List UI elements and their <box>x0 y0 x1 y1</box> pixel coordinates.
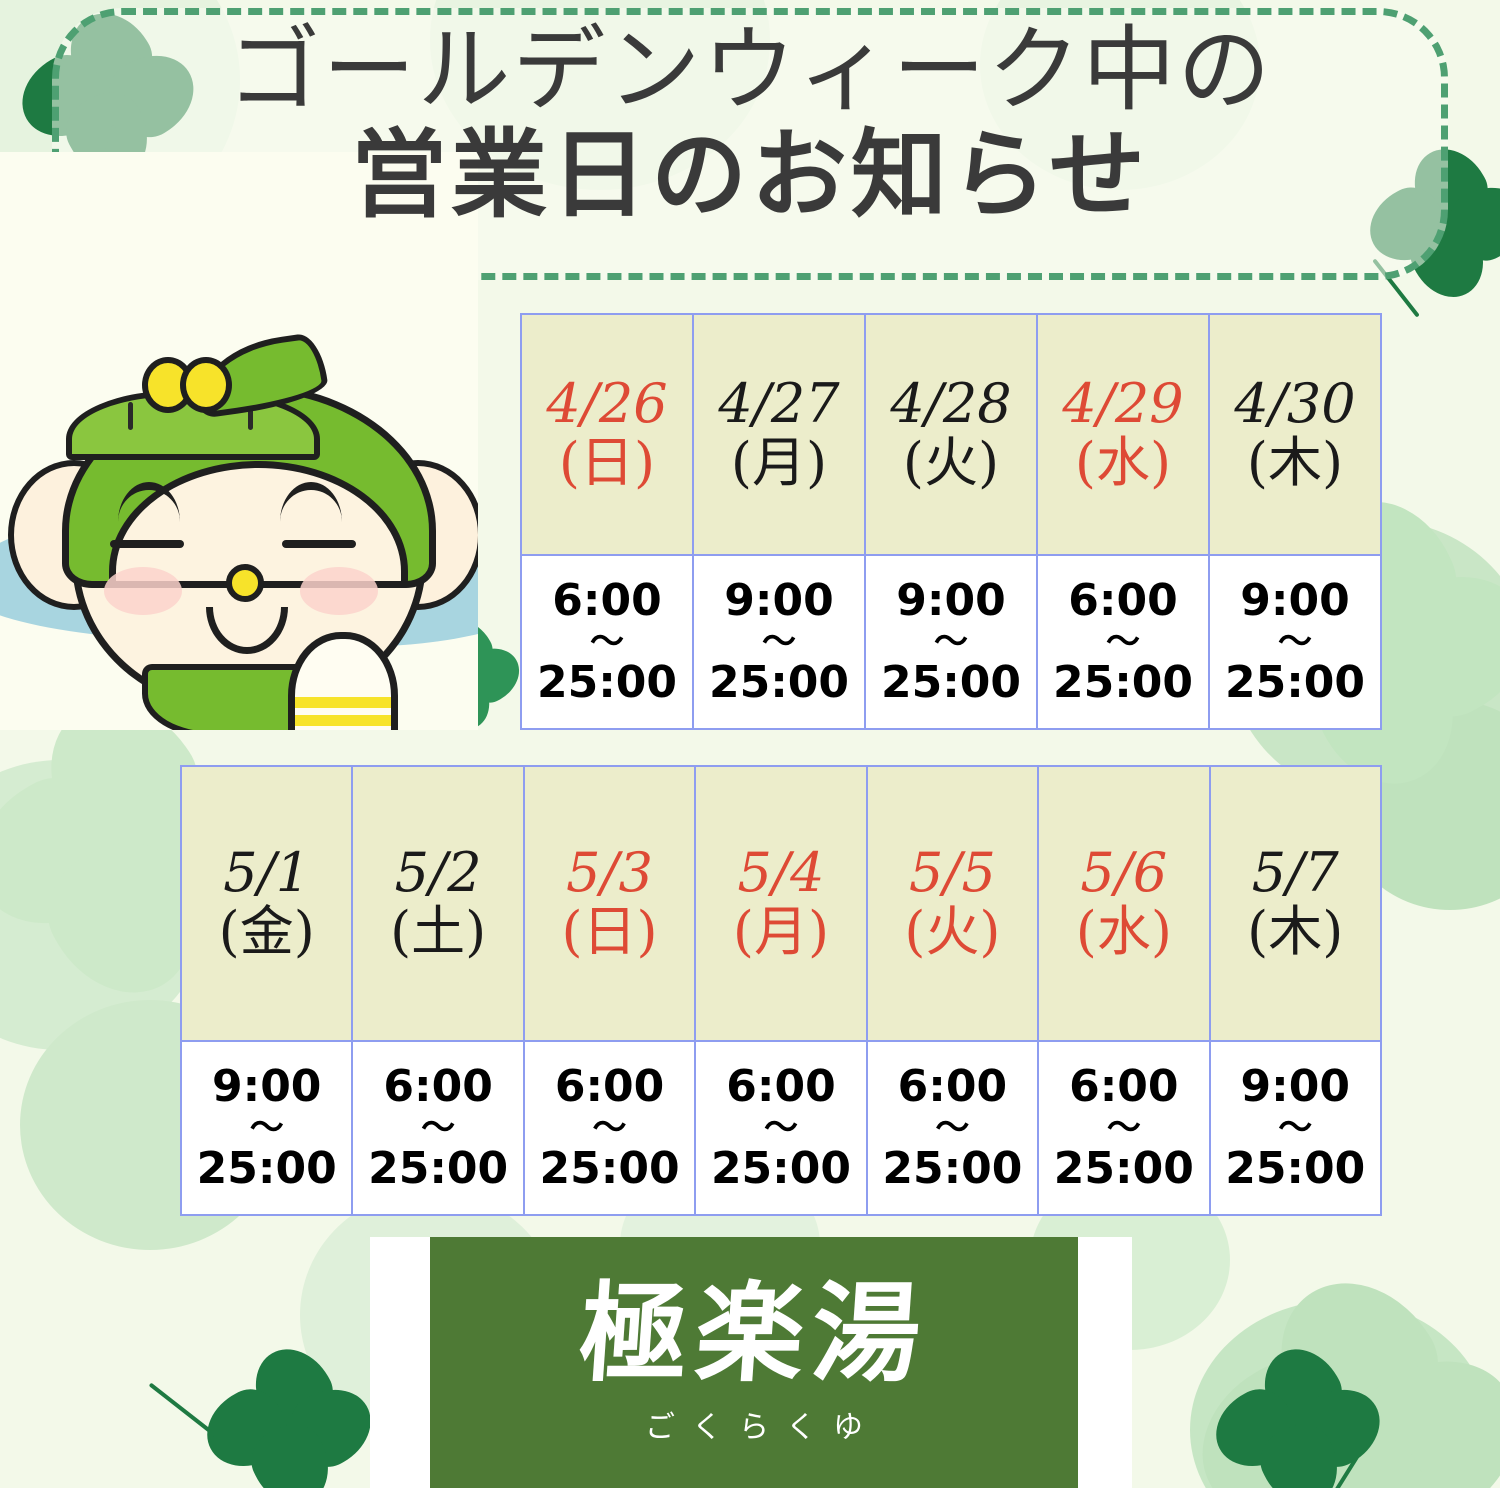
date-cell: 5/6 (水) <box>1039 767 1208 1042</box>
hours-open: 9:00 <box>1240 579 1349 623</box>
date-cell: 4/28 (火) <box>866 315 1036 556</box>
hours-close: 25:00 <box>540 1147 680 1191</box>
hours-separator: ～ <box>1107 1111 1141 1145</box>
notice-title: ゴールデンウィーク中の 営業日のお知らせ <box>0 18 1500 230</box>
schedule-column: 4/30 (木) 9:00 ～ 25:00 <box>1208 313 1382 730</box>
date-weekday: (木) <box>1247 902 1343 962</box>
mascot-illustration <box>0 152 478 730</box>
schedule-column: 5/5 (火) 6:00 ～ 25:00 <box>866 765 1037 1216</box>
schedule-column: 5/7 (木) 9:00 ～ 25:00 <box>1209 765 1382 1216</box>
hours-cell: 9:00 ～ 25:00 <box>866 556 1036 728</box>
date-number: 5/5 <box>909 844 996 902</box>
date-weekday: (土) <box>390 902 486 962</box>
mascot-blush-right <box>300 567 378 615</box>
brand-logo-kana: ごくらくゆ <box>628 1402 880 1446</box>
schedule-column: 5/3 (日) 6:00 ～ 25:00 <box>523 765 694 1216</box>
cap-stitch <box>128 402 133 430</box>
mascot-bud-right <box>180 357 232 413</box>
hours-close: 25:00 <box>1225 1147 1365 1191</box>
date-number: 4/30 <box>1234 375 1355 433</box>
date-weekday: (水) <box>1075 433 1171 493</box>
date-weekday: (月) <box>733 902 829 962</box>
hours-open: 6:00 <box>383 1065 492 1109</box>
hours-cell: 6:00 ～ 25:00 <box>868 1042 1037 1214</box>
hours-close: 25:00 <box>537 661 677 705</box>
hours-open: 6:00 <box>555 1065 664 1109</box>
hours-close: 25:00 <box>881 661 1021 705</box>
hours-open: 9:00 <box>212 1065 321 1109</box>
hours-close: 25:00 <box>709 661 849 705</box>
hours-separator: ～ <box>934 625 968 659</box>
date-number: 4/27 <box>718 375 839 433</box>
hours-open: 6:00 <box>1069 1065 1178 1109</box>
hours-open: 9:00 <box>1241 1065 1350 1109</box>
schedule-column: 4/28 (火) 9:00 ～ 25:00 <box>864 313 1036 730</box>
schedule-column: 5/2 (土) 6:00 ～ 25:00 <box>351 765 522 1216</box>
brand-logo-panel: 極楽湯 ごくらくゆ <box>430 1237 1078 1488</box>
hours-separator: ～ <box>593 1111 627 1145</box>
schedule-column: 5/1 (金) 9:00 ～ 25:00 <box>180 765 351 1216</box>
date-number: 5/3 <box>566 844 653 902</box>
hours-open: 6:00 <box>1068 579 1177 623</box>
hours-separator: ～ <box>935 1111 969 1145</box>
date-weekday: (月) <box>731 433 827 493</box>
hours-separator: ～ <box>590 625 624 659</box>
hours-open: 9:00 <box>896 579 1005 623</box>
hours-close: 25:00 <box>711 1147 851 1191</box>
date-weekday: (火) <box>903 433 999 493</box>
hours-separator: ～ <box>250 1111 284 1145</box>
hours-cell: 6:00 ～ 25:00 <box>1038 556 1208 728</box>
hours-open: 6:00 <box>898 1065 1007 1109</box>
hours-open: 6:00 <box>552 579 661 623</box>
hours-separator: ～ <box>1278 625 1312 659</box>
hours-open: 9:00 <box>724 579 833 623</box>
hours-cell: 9:00 ～ 25:00 <box>694 556 864 728</box>
schedule-column: 5/6 (水) 6:00 ～ 25:00 <box>1037 765 1208 1216</box>
clover-icon <box>205 1348 365 1488</box>
hours-open: 6:00 <box>726 1065 835 1109</box>
hours-cell: 9:00 ～ 25:00 <box>182 1042 351 1214</box>
hours-cell: 9:00 ～ 25:00 <box>1211 1042 1380 1214</box>
mascot-eye-left <box>110 540 184 548</box>
date-cell: 4/27 (月) <box>694 315 864 556</box>
mascot-eye-right <box>282 540 356 548</box>
date-weekday: (木) <box>1247 433 1343 493</box>
date-cell: 4/26 (日) <box>522 315 692 556</box>
schedule-column: 5/4 (月) 6:00 ～ 25:00 <box>694 765 865 1216</box>
hours-cell: 9:00 ～ 25:00 <box>1210 556 1380 728</box>
towel-stripe <box>288 715 398 726</box>
date-weekday: (日) <box>561 902 657 962</box>
hours-separator: ～ <box>1106 625 1140 659</box>
date-cell: 5/3 (日) <box>525 767 694 1042</box>
clover-icon <box>1214 1348 1374 1488</box>
schedule-column: 4/26 (日) 6:00 ～ 25:00 <box>520 313 692 730</box>
mascot-blush-left <box>104 567 182 615</box>
schedule-column: 4/27 (月) 9:00 ～ 25:00 <box>692 313 864 730</box>
hours-close: 25:00 <box>368 1147 508 1191</box>
hours-cell: 6:00 ～ 25:00 <box>525 1042 694 1214</box>
hours-close: 25:00 <box>882 1147 1022 1191</box>
date-cell: 5/4 (月) <box>696 767 865 1042</box>
schedule-table-week1: 4/26 (日) 6:00 ～ 25:00 4/27 (月) 9:00 ～ 25… <box>520 313 1382 730</box>
date-cell: 5/5 (火) <box>868 767 1037 1042</box>
date-weekday: (金) <box>219 902 315 962</box>
date-cell: 4/30 (木) <box>1210 315 1380 556</box>
hours-close: 25:00 <box>1053 661 1193 705</box>
date-number: 4/26 <box>546 375 667 433</box>
title-line-2: 営業日のお知らせ <box>0 122 1500 230</box>
hours-cell: 6:00 ～ 25:00 <box>1039 1042 1208 1214</box>
date-cell: 4/29 (水) <box>1038 315 1208 556</box>
date-number: 5/4 <box>738 844 825 902</box>
date-cell: 5/2 (土) <box>353 767 522 1042</box>
hours-cell: 6:00 ～ 25:00 <box>353 1042 522 1214</box>
hours-separator: ～ <box>762 625 796 659</box>
schedule-column: 4/29 (水) 6:00 ～ 25:00 <box>1036 313 1208 730</box>
hours-cell: 6:00 ～ 25:00 <box>522 556 692 728</box>
brand-logo-kanji: 極楽湯 <box>576 1280 932 1388</box>
towel-stripe <box>288 697 398 708</box>
date-number: 4/29 <box>1062 375 1183 433</box>
date-number: 5/6 <box>1080 844 1167 902</box>
mascot-nose <box>226 564 264 602</box>
title-line-1: ゴールデンウィーク中の <box>0 18 1500 122</box>
date-number: 4/28 <box>890 375 1011 433</box>
brand-logo-card: 極楽湯 ごくらくゆ <box>370 1237 1132 1488</box>
hours-close: 25:00 <box>1225 661 1365 705</box>
hours-separator: ～ <box>764 1111 798 1145</box>
hours-separator: ～ <box>1278 1111 1312 1145</box>
hours-cell: 6:00 ～ 25:00 <box>696 1042 865 1214</box>
schedule-table-week2: 5/1 (金) 9:00 ～ 25:00 5/2 (土) 6:00 ～ 25:0… <box>180 765 1382 1216</box>
date-weekday: (水) <box>1076 902 1172 962</box>
date-cell: 5/1 (金) <box>182 767 351 1042</box>
hours-separator: ～ <box>421 1111 455 1145</box>
date-number: 5/7 <box>1252 844 1339 902</box>
date-number: 5/2 <box>395 844 482 902</box>
date-weekday: (火) <box>904 902 1000 962</box>
date-number: 5/1 <box>223 844 310 902</box>
hours-close: 25:00 <box>197 1147 337 1191</box>
date-weekday: (日) <box>559 433 655 493</box>
date-cell: 5/7 (木) <box>1211 767 1380 1042</box>
hours-close: 25:00 <box>1054 1147 1194 1191</box>
